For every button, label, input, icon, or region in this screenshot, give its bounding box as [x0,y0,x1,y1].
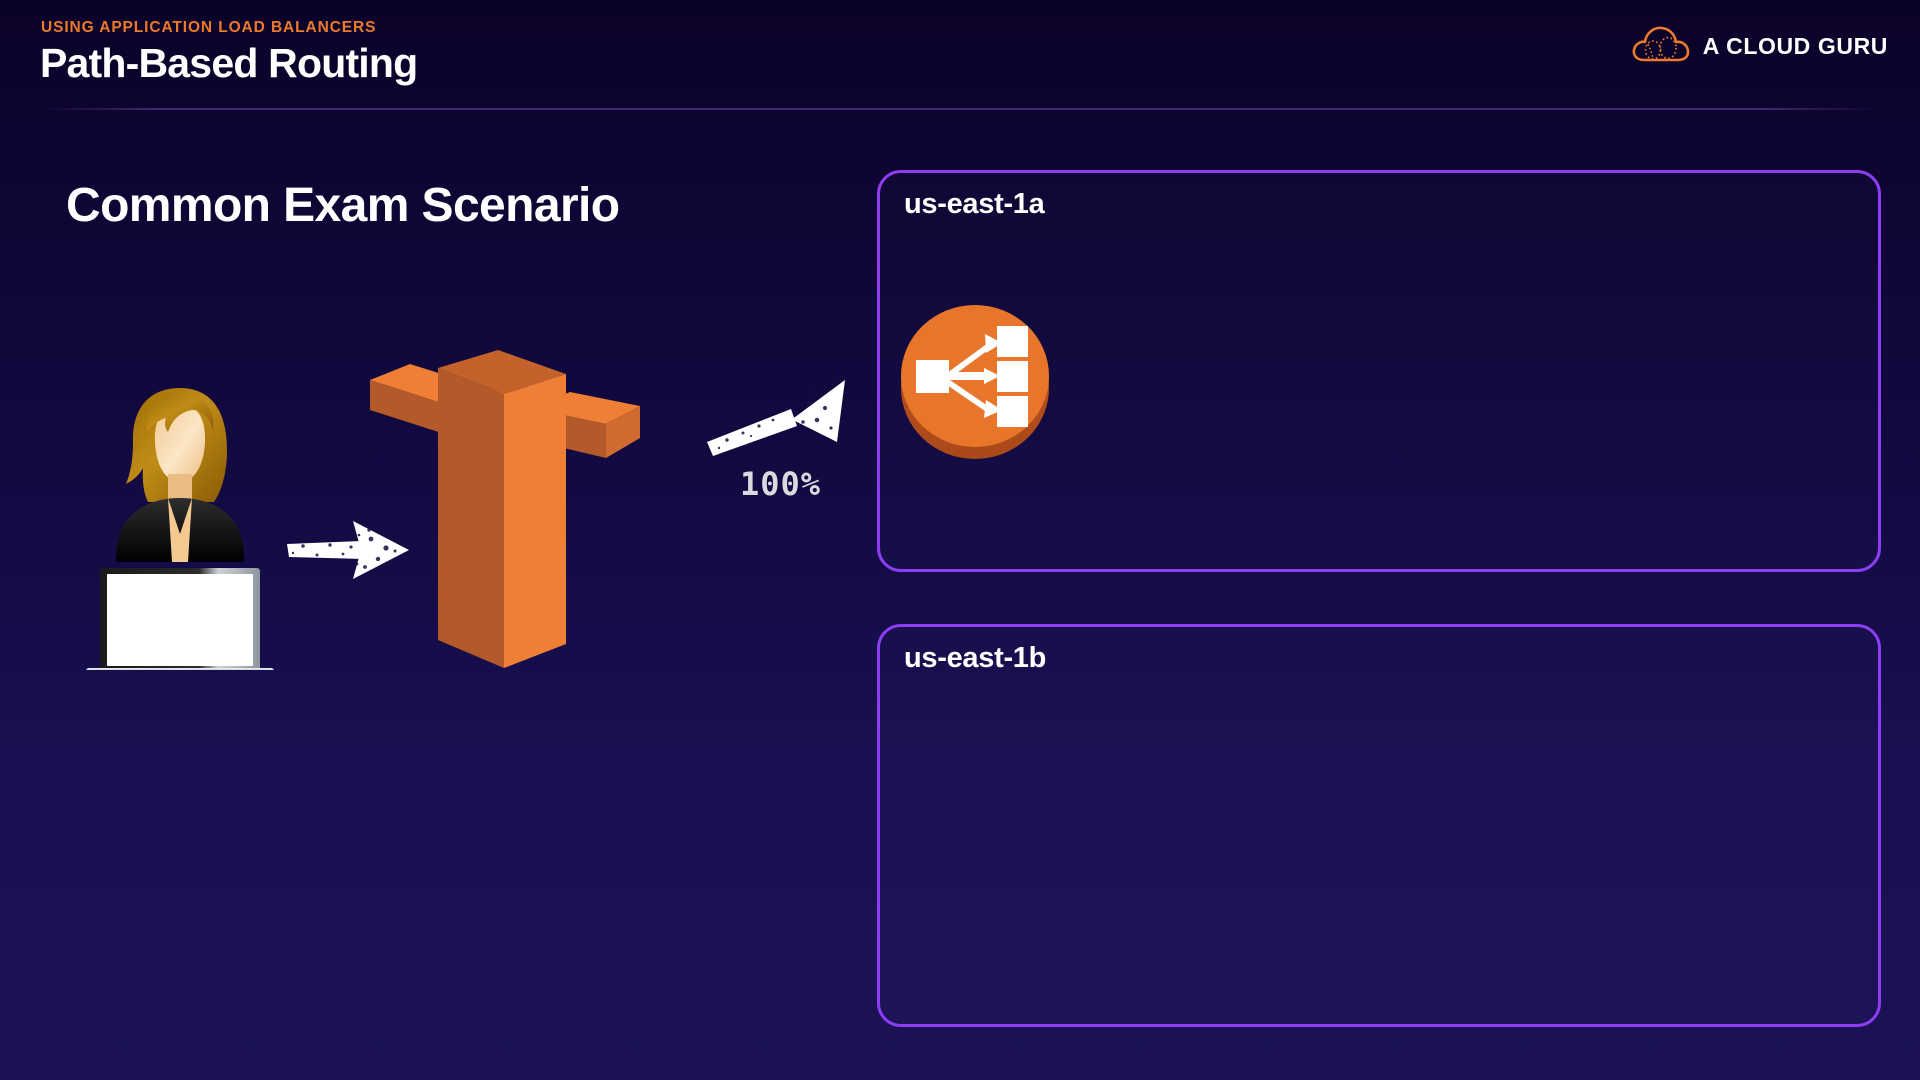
header-divider [41,108,1879,110]
slide-header: USING APPLICATION LOAD BALANCERS Path-Ba… [0,0,1920,110]
availability-zone-label: us-east-1a [904,188,1044,221]
arrow-load-balancer-to-az1 [705,378,865,458]
slide-canvas: USING APPLICATION LOAD BALANCERS Path-Ba… [0,0,1920,1080]
target-group-icon [890,290,1060,465]
availability-zone-box-us-east-1b: us-east-1b [877,624,1881,1027]
brand-logo: A CLOUD GURU [1630,22,1888,71]
brand-name-label: A CLOUD GURU [1703,33,1888,60]
traffic-percent-label: 100% [740,465,821,503]
slide-deck-title: Path-Based Routing [40,40,417,87]
availability-zone-label: us-east-1b [904,642,1046,675]
section-title: Common Exam Scenario [66,178,620,233]
course-eyebrow-label: USING APPLICATION LOAD BALANCERS [41,19,376,37]
cloud-icon [1630,22,1690,71]
user-laptop-icon [80,370,280,670]
elastic-load-balancer-icon [370,350,640,720]
